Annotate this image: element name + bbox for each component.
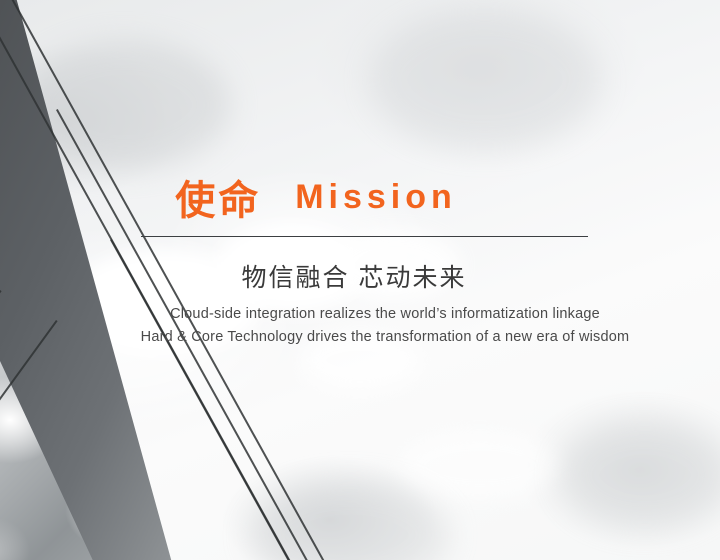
headline-divider xyxy=(141,236,588,237)
headline-title-en: Mission xyxy=(295,178,457,216)
mission-banner: 使命Mission 物信融合 芯动未来 Cloud-side integrati… xyxy=(0,0,720,560)
haze-shape xyxy=(370,10,600,150)
tagline-line-2: Hard & Core Technology drives the transf… xyxy=(0,329,720,345)
haze-shape xyxy=(560,420,720,530)
subtitle-chinese: 物信融合 芯动未来 xyxy=(0,258,720,294)
cloud-shape xyxy=(400,430,560,500)
headline: 使命Mission xyxy=(0,168,720,226)
headline-title-cn: 使命 xyxy=(175,179,261,223)
tagline-line-1: Cloud-side integration realizes the worl… xyxy=(0,306,720,322)
